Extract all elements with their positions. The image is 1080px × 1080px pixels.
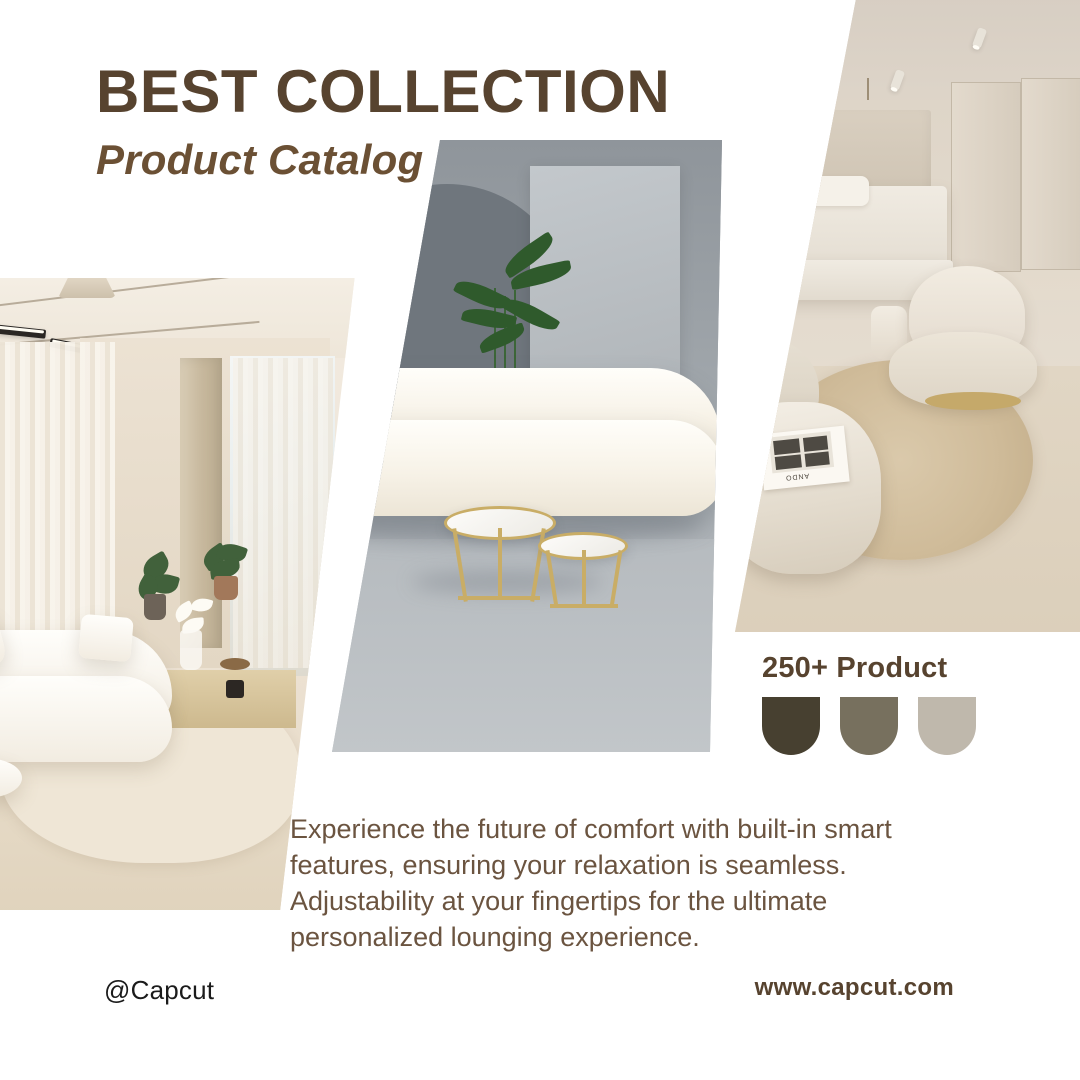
glass-vase <box>180 630 202 670</box>
ando-book: ANDO <box>758 426 849 491</box>
table-leg <box>582 550 586 606</box>
table-leg <box>498 528 502 598</box>
wardrobe-door <box>1021 78 1080 270</box>
social-handle: @Capcut <box>104 975 214 1006</box>
product-count-label: 250+ Product <box>762 652 976 685</box>
book-cell <box>773 438 800 455</box>
color-swatch-row <box>762 697 976 755</box>
plant-pot <box>144 594 166 620</box>
chair-gold-base <box>925 392 1021 410</box>
book-cell <box>803 435 828 451</box>
color-swatch-light-greige[interactable] <box>918 697 976 755</box>
wood-plinth <box>166 670 296 728</box>
grey-studio-sofa-image <box>322 140 722 752</box>
ceramic-vase <box>743 398 767 446</box>
sheer-curtain <box>233 358 333 668</box>
wardrobe-door <box>951 82 1021 272</box>
backdrop-panel <box>530 166 680 396</box>
page-title: BEST COLLECTION <box>96 62 670 122</box>
bedroom-boucle-chair-image: ANDO <box>735 0 1080 632</box>
color-swatch-medium-taupe[interactable] <box>840 697 898 755</box>
headline-block: BEST COLLECTION Product Catalog <box>96 62 670 182</box>
book-title-text: ANDO <box>785 472 810 481</box>
table-shadow <box>412 570 602 594</box>
gallery-panel-middle[interactable] <box>322 140 722 752</box>
sofa-pillow <box>78 614 134 662</box>
description-paragraph: Experience the future of comfort with bu… <box>290 812 962 956</box>
poster-canvas: ANDO BEST COLLECTION Product Catalog 250… <box>0 0 1080 1080</box>
bed-pillow <box>807 176 869 206</box>
bed-pillow <box>743 182 803 212</box>
table-base-bar <box>550 604 618 608</box>
pendant-lamp <box>58 278 116 298</box>
sofa-seat <box>322 420 722 516</box>
black-cup <box>226 680 244 698</box>
page-subtitle: Product Catalog <box>96 138 670 182</box>
curved-sofa-seat <box>0 676 172 762</box>
color-swatch-dark-olive-brown[interactable] <box>762 697 820 755</box>
website-url[interactable]: www.capcut.com <box>755 974 954 1002</box>
book-cell <box>805 451 830 466</box>
sculpted-stone-table <box>735 402 881 574</box>
book-cell <box>775 454 802 470</box>
terracotta-pot <box>214 576 238 600</box>
wood-bowl <box>220 658 250 670</box>
gallery-panel-right[interactable]: ANDO <box>735 0 1080 632</box>
product-count-block: 250+ Product <box>762 652 976 755</box>
table-base-bar <box>458 596 540 600</box>
